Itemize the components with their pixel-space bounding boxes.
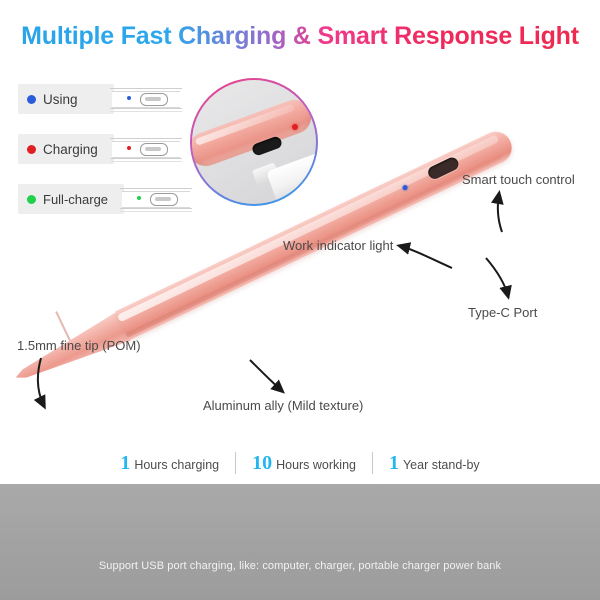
footer-caption: Support USB port charging, like: compute… — [0, 560, 600, 572]
pen-led-icon — [127, 96, 131, 100]
callout-fine-tip: 1.5mm fine tip (POM) — [17, 338, 141, 353]
pen-indicator-graphic — [120, 186, 192, 212]
stat-number: 10 — [252, 452, 272, 475]
legend-label: Using — [43, 92, 78, 107]
pen-type-c-port-icon — [150, 193, 178, 206]
compatible-devices-band — [0, 484, 600, 600]
stat-label: Year stand-by — [403, 458, 480, 472]
legend-label: Charging — [43, 142, 98, 157]
magnified-led-icon — [292, 124, 298, 130]
stat-label: Hours charging — [134, 458, 219, 472]
stat-number: 1 — [120, 452, 130, 475]
pen-indicator-graphic — [110, 136, 182, 162]
stat-number: 1 — [389, 452, 399, 475]
status-dot-blue-icon — [27, 95, 36, 104]
stylus-led-icon — [402, 184, 409, 191]
spec-stats-row: 1 Hours charging 10 Hours working 1 Year… — [0, 448, 600, 478]
pen-led-icon — [127, 146, 131, 150]
status-dot-green-icon — [27, 195, 36, 204]
usb-c-plug-icon — [266, 150, 316, 203]
infographic-root: Multiple Fast Charging & Smart Response … — [0, 0, 600, 600]
stat-label: Hours working — [276, 458, 356, 472]
legend-chip: Charging — [18, 134, 114, 164]
pen-type-c-port-icon — [140, 93, 168, 106]
legend-row-using: Using — [18, 84, 186, 114]
pen-indicator-graphic — [110, 86, 182, 112]
callout-smart-touch-control: Smart touch control — [462, 172, 575, 187]
legend-row-charging: Charging — [18, 134, 186, 164]
stat-standby-time: 1 Year stand-by — [373, 452, 496, 475]
stylus-type-c-port-icon — [426, 155, 460, 181]
page-title: Multiple Fast Charging & Smart Response … — [0, 22, 600, 51]
stat-charging-time: 1 Hours charging — [104, 452, 235, 475]
legend-row-full-charge: Full-charge — [18, 184, 186, 214]
pen-type-c-port-icon — [140, 143, 168, 156]
magnified-port-view — [190, 78, 318, 206]
callout-aluminum-alloy: Aluminum ally (Mild texture) — [203, 398, 363, 413]
callout-work-indicator-light: Work indicator light — [283, 238, 393, 253]
legend-chip: Full-charge — [18, 184, 124, 214]
legend-chip: Using — [18, 84, 114, 114]
status-legend: Using Charging — [18, 84, 186, 234]
stat-working-time: 10 Hours working — [236, 452, 372, 475]
status-dot-red-icon — [27, 145, 36, 154]
legend-label: Full-charge — [43, 192, 108, 207]
pen-led-icon — [137, 196, 141, 200]
stylus-tip-seam — [55, 311, 71, 341]
callout-type-c-port: Type-C Port — [468, 305, 537, 320]
